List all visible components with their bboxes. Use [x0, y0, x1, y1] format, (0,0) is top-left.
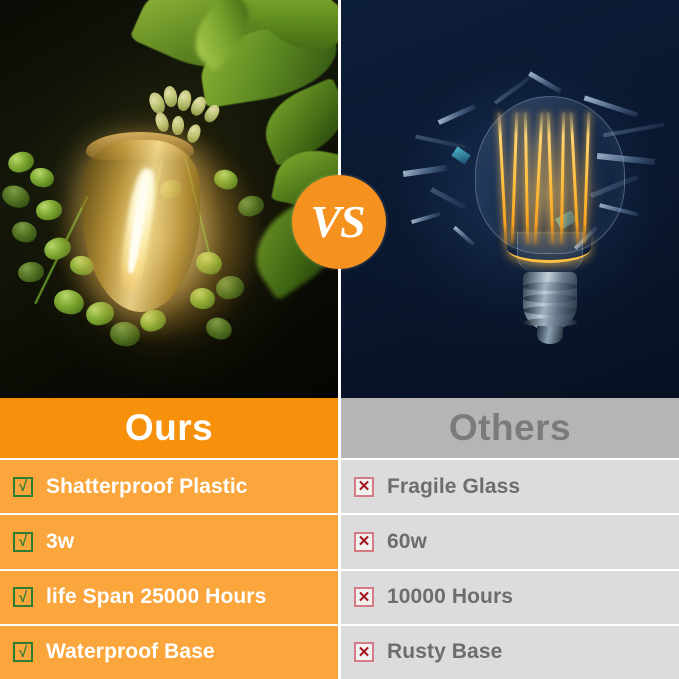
cross-icon: ✕ [354, 532, 374, 552]
ours-feature-label: 3w [46, 530, 74, 554]
vs-badge: VS [292, 175, 386, 269]
screw-tip [537, 326, 563, 344]
cross-icon: ✕ [354, 587, 374, 607]
table-row: √ life Span 25000 Hours [0, 569, 338, 624]
table-row: ✕ Rusty Base [341, 624, 679, 679]
table-row: ✕ Fragile Glass [341, 458, 679, 513]
filament-loop [507, 234, 591, 263]
screw-thread [523, 282, 577, 291]
ours-column: Ours √ Shatterproof Plastic √ 3w √ life … [0, 398, 338, 679]
screw-thread [523, 306, 577, 315]
comparison-infographic: VS Ours √ Shatterproof Plastic √ 3w √ li… [0, 0, 679, 679]
check-icon: √ [13, 587, 33, 607]
check-icon: √ [13, 642, 33, 662]
filament-group [491, 112, 607, 262]
cross-icon: ✕ [354, 477, 374, 497]
ours-product-photo [0, 0, 338, 398]
table-row: ✕ 60w [341, 513, 679, 568]
filament-strand [524, 112, 529, 244]
check-icon: √ [13, 532, 33, 552]
ours-column-header: Ours [0, 398, 338, 458]
comparison-table: Ours √ Shatterproof Plastic √ 3w √ life … [0, 398, 679, 679]
others-feature-label: 10000 Hours [387, 585, 513, 609]
others-product-photo [341, 0, 679, 398]
cross-icon: ✕ [354, 642, 374, 662]
ours-feature-label: Shatterproof Plastic [46, 475, 248, 499]
table-row: √ 3w [0, 513, 338, 568]
ours-feature-label: life Span 25000 Hours [46, 585, 266, 609]
vs-badge-label: VS [310, 199, 367, 245]
filament-strand [534, 112, 544, 244]
table-row: √ Waterproof Base [0, 624, 338, 679]
filament-strand [511, 112, 519, 244]
others-feature-label: Rusty Base [387, 640, 502, 664]
others-feature-label: Fragile Glass [387, 475, 520, 499]
filament-strand [498, 112, 508, 244]
filament-strand [583, 112, 591, 244]
others-feature-label: 60w [387, 530, 427, 554]
table-row: ✕ 10000 Hours [341, 569, 679, 624]
others-rows: ✕ Fragile Glass ✕ 60w ✕ 10000 Hours ✕ Ru… [341, 458, 679, 679]
others-column-header: Others [341, 398, 679, 458]
ours-rows: √ Shatterproof Plastic √ 3w √ life Span … [0, 458, 338, 679]
check-icon: √ [13, 477, 33, 497]
filament-strand [547, 112, 555, 244]
screw-thread [523, 294, 577, 303]
others-column: Others ✕ Fragile Glass ✕ 60w ✕ 10000 Hou… [341, 398, 679, 679]
filament-strand [570, 112, 580, 244]
ours-feature-label: Waterproof Base [46, 640, 215, 664]
table-row: √ Shatterproof Plastic [0, 458, 338, 513]
filament-strand [560, 112, 565, 244]
